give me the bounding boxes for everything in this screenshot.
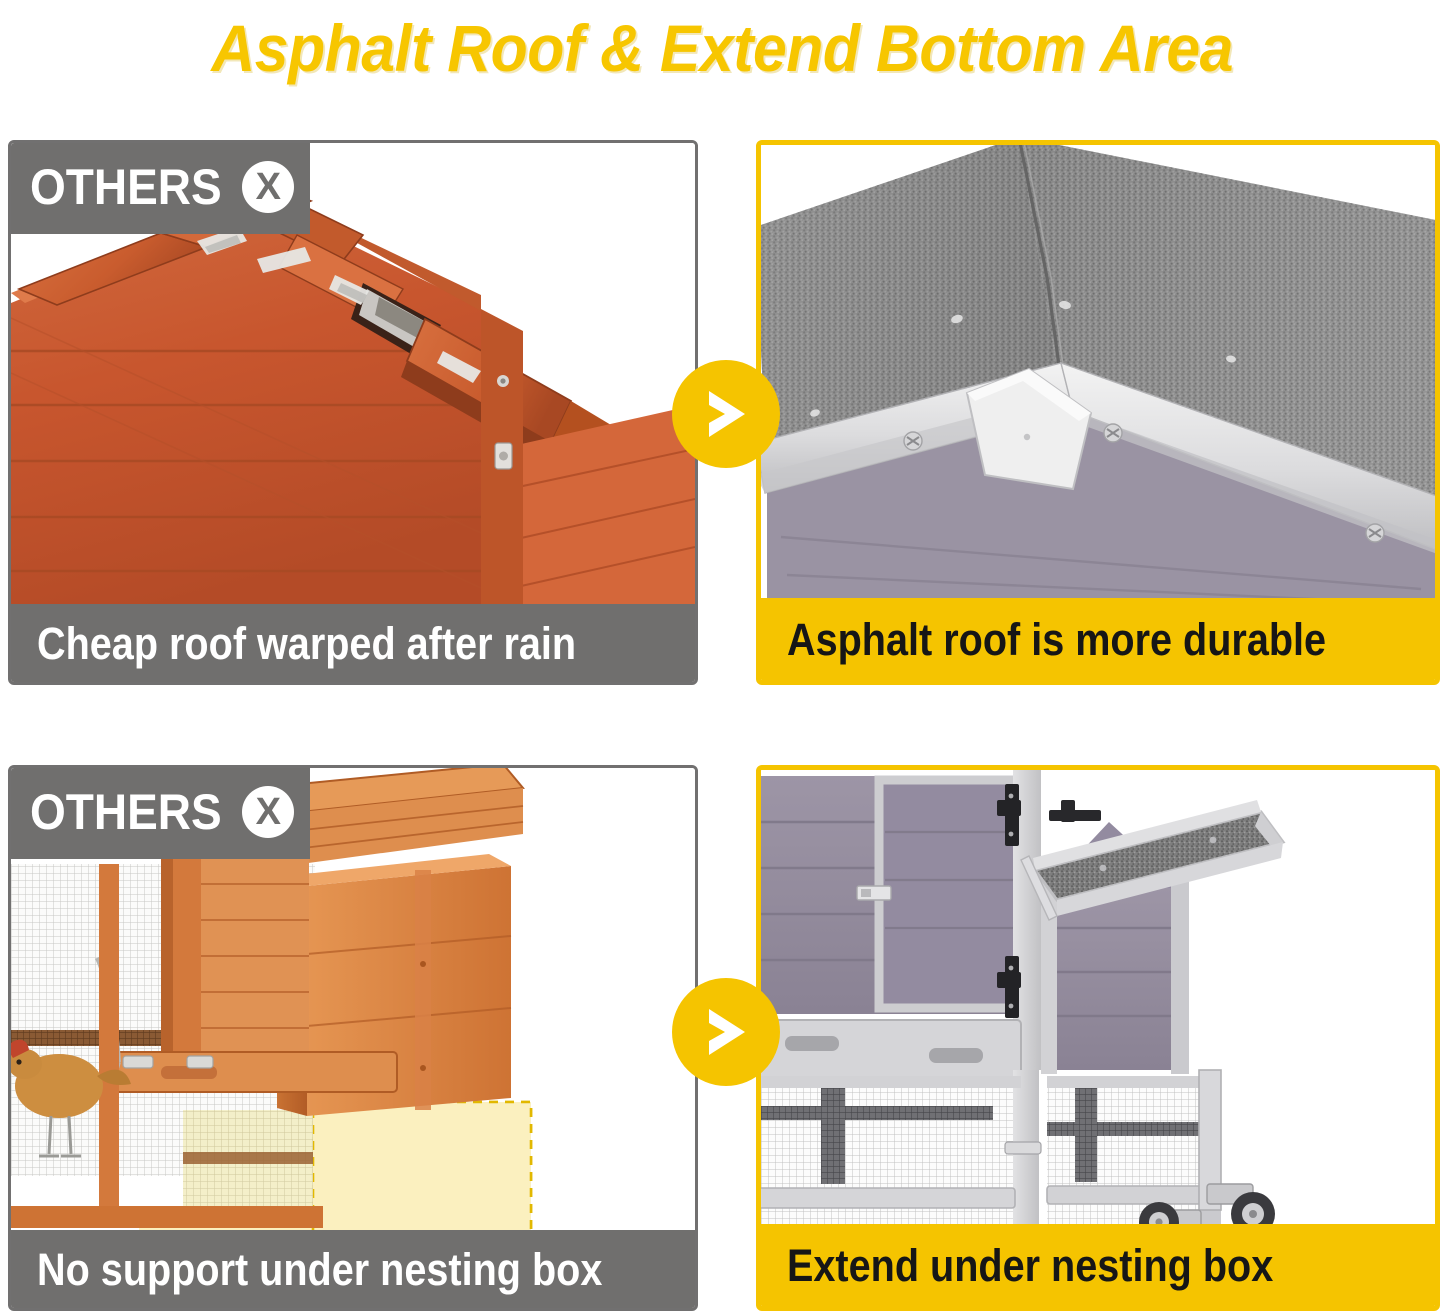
comparison-roof-others-panel: OTHERS X Cheap roof warped after rain (8, 140, 698, 685)
others-bottom-caption-text: No support under nesting box (37, 1247, 602, 1292)
others-bottom-caption: No support under nesting box (11, 1230, 695, 1308)
others-badge-label: OTHERS (30, 162, 222, 212)
others-badge-label: OTHERS (30, 787, 222, 837)
ours-bottom-caption: Extend under nesting box (761, 1224, 1435, 1306)
ours-bottom-illustration (761, 770, 1435, 1224)
others-roof-caption: Cheap roof warped after rain (11, 604, 695, 682)
chevron-right-icon (695, 383, 757, 445)
comparison-roof-ours-panel: Asphalt roof is more durable (756, 140, 1440, 685)
comparison-bottom-others-panel: OTHERS X No support under nesting box (8, 765, 698, 1311)
ours-roof-caption-text: Asphalt roof is more durable (787, 617, 1326, 662)
ours-roof-photo (761, 145, 1435, 598)
page-title-text: Asphalt Roof & Extend Bottom Area (212, 15, 1234, 81)
others-roof-caption-text: Cheap roof warped after rain (37, 621, 576, 666)
page-title: Asphalt Roof & Extend Bottom Area (0, 0, 1445, 96)
others-badge: OTHERS X (8, 140, 310, 234)
others-badge: OTHERS X (8, 765, 310, 859)
ours-roof-caption: Asphalt roof is more durable (761, 598, 1435, 680)
chevron-right-icon (695, 1001, 757, 1063)
ours-bottom-photo (761, 770, 1435, 1224)
comparison-bottom-ours-panel: Extend under nesting box (756, 765, 1440, 1311)
comparison-bottom-arrow (672, 978, 780, 1086)
cross-icon: X (242, 786, 294, 838)
ours-bottom-caption-text: Extend under nesting box (787, 1243, 1273, 1288)
cross-icon: X (242, 161, 294, 213)
comparison-roof-arrow (672, 360, 780, 468)
ours-roof-illustration (761, 145, 1435, 598)
